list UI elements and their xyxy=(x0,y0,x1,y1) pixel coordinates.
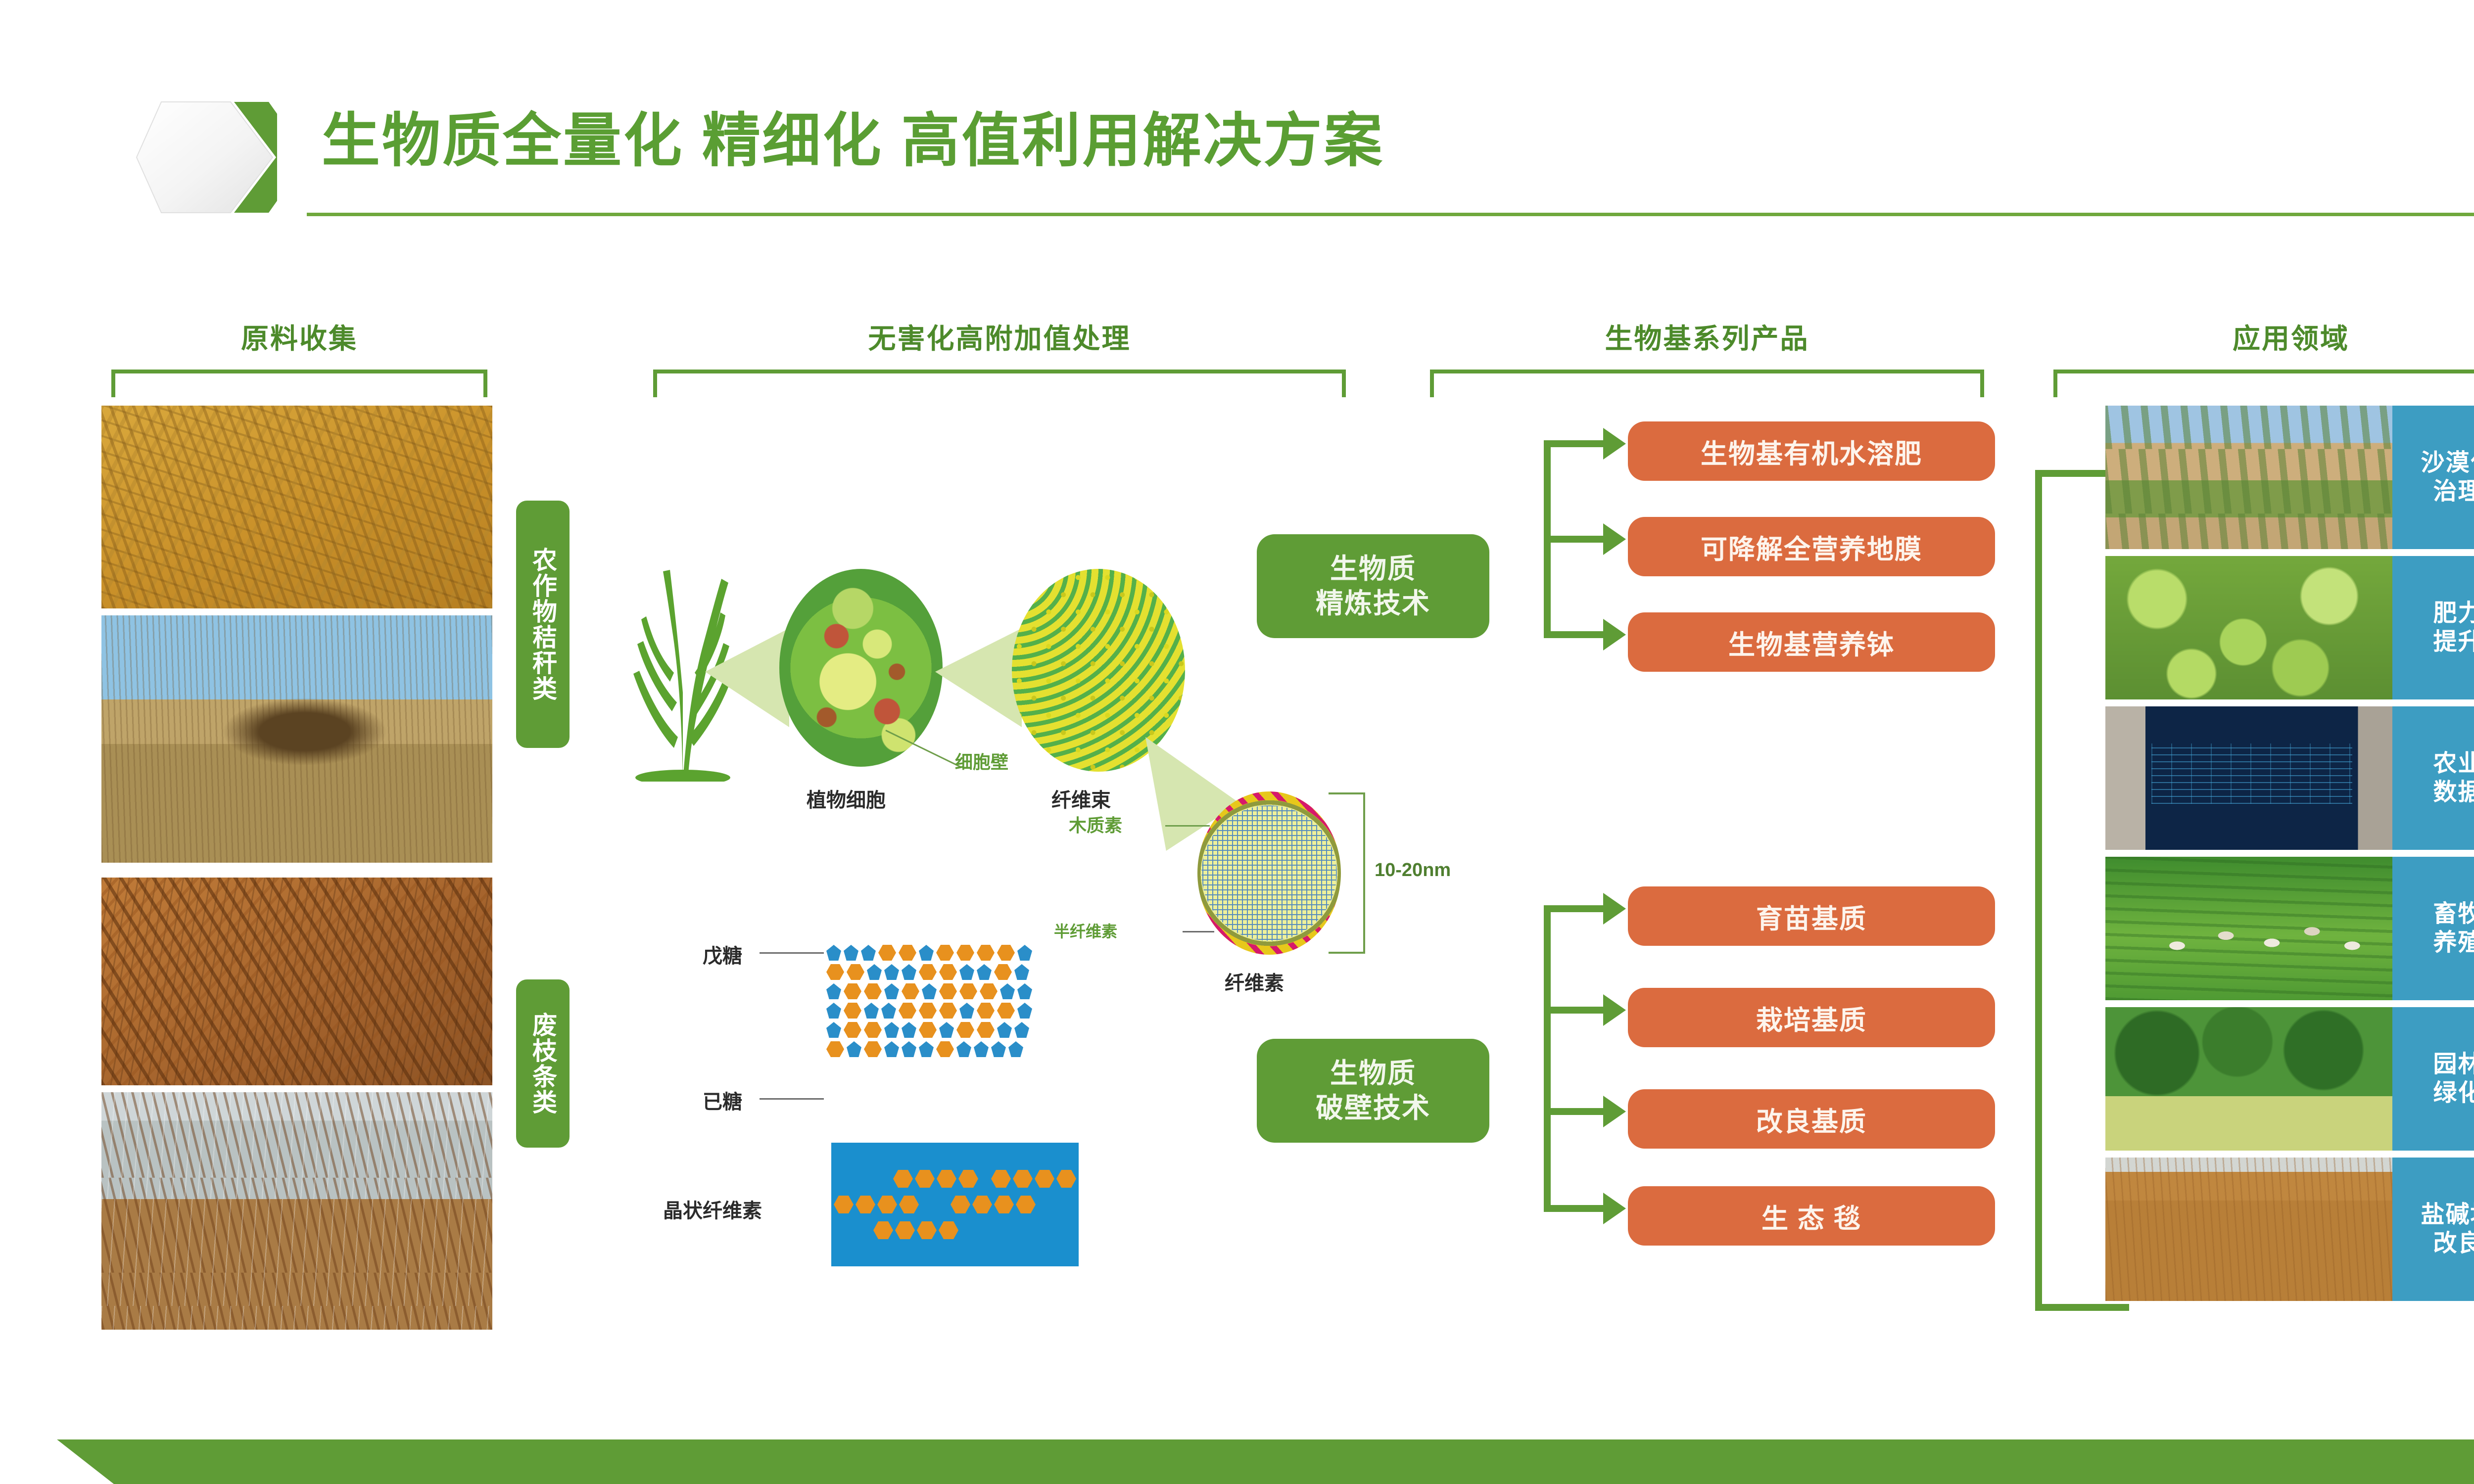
connector-branch-wall-2 xyxy=(1544,1007,1603,1014)
page-title: 生物质全量化 精细化 高值利用解决方案 xyxy=(322,93,1384,178)
application-row-3[interactable]: 农业 数据 xyxy=(2105,706,2474,850)
application-row-4[interactable]: 畜牧 养殖 xyxy=(2105,857,2474,1000)
tech-box-refining-line2: 精炼技术 xyxy=(1316,586,1430,621)
photo-forest-park xyxy=(2105,1007,2392,1151)
dimension-label: 10-20nm xyxy=(1375,860,1451,881)
dimension-tick-top xyxy=(1329,792,1365,794)
application-row-1[interactable]: 沙漠化 治理 xyxy=(2105,406,2474,549)
title-underline xyxy=(307,213,2474,216)
photo-cabbage-field xyxy=(2105,556,2392,699)
application-label-1: 沙漠化 治理 xyxy=(2392,406,2474,549)
crystalline-cellulose-label: 晶状纤维素 xyxy=(663,1195,762,1223)
photo-sheep-grazing xyxy=(2105,857,2392,1000)
application-label-4-line1: 畜牧 xyxy=(2433,900,2474,928)
lignin-leader-line xyxy=(1165,825,1210,827)
application-label-1-line2: 治理 xyxy=(2433,477,2474,506)
pentose-label: 戊糖 xyxy=(703,940,742,969)
pentose-leader-line xyxy=(760,952,824,954)
hexose-label: 已糖 xyxy=(703,1086,742,1114)
grass-plant-icon xyxy=(609,524,757,782)
fiber-cross-section-illustration xyxy=(1197,791,1341,955)
column-header-products: 生物基系列产品 xyxy=(1430,317,1984,397)
column-header-raw-label: 原料收集 xyxy=(111,317,487,357)
title-bar: 生物质全量化 精细化 高值利用解决方案 xyxy=(0,0,2474,257)
column-header-products-label: 生物基系列产品 xyxy=(1430,317,1984,357)
footer-bar xyxy=(0,1439,2474,1484)
application-label-3: 农业 数据 xyxy=(2392,706,2474,850)
fiber-bundle-label: 纤维束 xyxy=(1051,784,1111,813)
sugar-row xyxy=(826,964,1032,980)
product-pill-4[interactable]: 育苗基质 xyxy=(1628,886,1995,946)
connector-branch-wall-4 xyxy=(1544,1205,1603,1212)
photo-vineyard-pruning xyxy=(101,1092,492,1330)
column-header-raw: 原料收集 xyxy=(111,317,487,397)
hemicellulose-leader-line xyxy=(1183,931,1214,932)
cell-wall-label: 细胞壁 xyxy=(955,748,1008,774)
application-list: 沙漠化 治理 肥力 提升 农业 数据 畜牧 养殖 园林 绿化 盐碱地 xyxy=(2105,406,2474,1308)
photo-desert-greening xyxy=(2105,406,2392,549)
tech-box-refining[interactable]: 生物质 精炼技术 xyxy=(1257,534,1489,638)
column-header-processing: 无害化高附加值处理 xyxy=(653,317,1346,397)
hexose-leader-line xyxy=(760,1098,824,1100)
fiber-bundle-illustration xyxy=(1012,569,1185,772)
photo-straw-bale-field xyxy=(101,615,492,863)
connector-trunk-wallbreaking xyxy=(1544,905,1551,1212)
crystal-row xyxy=(873,1221,1076,1239)
connector-branch-wall-1 xyxy=(1544,905,1603,912)
application-label-5-line2: 绿化 xyxy=(2433,1079,2474,1108)
tech-box-wallbreaking-line1: 生物质 xyxy=(1330,1056,1416,1091)
hemicellulose-label: 半纤维素 xyxy=(1054,919,1117,942)
cellulose-label: 纤维素 xyxy=(1225,967,1284,996)
application-label-4-line2: 养殖 xyxy=(2433,928,2474,957)
connector-branch-refining-3 xyxy=(1544,631,1603,638)
application-label-6-line2: 改良 xyxy=(2433,1229,2474,1258)
connector-branch-refining-2 xyxy=(1544,536,1603,543)
photo-dry-branches xyxy=(101,878,492,1085)
sugar-row xyxy=(826,1041,1032,1057)
tech-box-refining-line1: 生物质 xyxy=(1330,552,1416,586)
raw-material-photo-stack xyxy=(101,406,492,1330)
arrow-wall-1 xyxy=(1603,893,1626,925)
raw-material-tag-straw: 农作物秸秆类 xyxy=(516,501,570,748)
arrow-refining-2 xyxy=(1603,523,1626,555)
column-header-applications-label: 应用领域 xyxy=(2053,317,2474,357)
arrow-refining-1 xyxy=(1603,428,1626,460)
column-bracket xyxy=(111,370,487,397)
sugar-row xyxy=(826,945,1032,961)
column-bracket xyxy=(2053,370,2474,397)
cellulose-mesh xyxy=(1197,791,1341,955)
magnify-cone-2 xyxy=(935,628,1022,727)
product-list: 生物基有机水溶肥 可降解全营养地膜 生物基营养钵 育苗基质 栽培基质 改良基质 … xyxy=(1628,416,2004,1355)
application-row-5[interactable]: 园林 绿化 xyxy=(2105,1007,2474,1151)
lignin-label: 木质素 xyxy=(1069,811,1122,837)
application-label-4: 畜牧 养殖 xyxy=(2392,857,2474,1000)
crystal-row xyxy=(834,1196,1076,1213)
application-label-3-line1: 农业 xyxy=(2433,749,2474,778)
column-header-applications: 应用领域 xyxy=(2053,317,2474,397)
plant-cell-label: 植物细胞 xyxy=(807,784,886,813)
crystalline-cellulose-illustration xyxy=(831,1143,1079,1266)
application-label-6-line1: 盐碱地 xyxy=(2421,1201,2474,1229)
application-label-2-line1: 肥力 xyxy=(2433,599,2474,628)
tech-box-wallbreaking-line2: 破壁技术 xyxy=(1316,1091,1430,1125)
sugar-row xyxy=(826,1003,1032,1019)
application-label-1-line1: 沙漠化 xyxy=(2421,449,2474,477)
product-pill-2[interactable]: 可降解全营养地膜 xyxy=(1628,517,1995,576)
hexagon-badge-icon xyxy=(133,83,296,232)
product-pill-3[interactable]: 生物基营养钵 xyxy=(1628,612,1995,672)
tech-box-wallbreaking[interactable]: 生物质 破壁技术 xyxy=(1257,1039,1489,1143)
application-label-5-line1: 园林 xyxy=(2433,1050,2474,1079)
dimension-line-vertical xyxy=(1363,792,1365,954)
column-bracket xyxy=(653,370,1346,397)
photo-saline-alkali-soil xyxy=(2105,1158,2392,1301)
photo-corn-stalk-field xyxy=(101,406,492,608)
column-header-processing-label: 无害化高附加值处理 xyxy=(653,317,1346,357)
application-row-2[interactable]: 肥力 提升 xyxy=(2105,556,2474,699)
dimension-tick-bottom xyxy=(1329,952,1365,954)
product-pill-5[interactable]: 栽培基质 xyxy=(1628,988,1995,1047)
application-label-5: 园林 绿化 xyxy=(2392,1007,2474,1151)
application-label-6: 盐碱地 改良 xyxy=(2392,1158,2474,1301)
column-bracket xyxy=(1430,370,1984,397)
arrow-wall-4 xyxy=(1603,1193,1626,1224)
product-pill-7[interactable]: 生 态 毯 xyxy=(1628,1186,1995,1246)
plant-cell-illustration xyxy=(779,569,943,767)
product-pill-6[interactable]: 改良基质 xyxy=(1628,1089,1995,1149)
arrow-wall-3 xyxy=(1603,1096,1626,1127)
arrow-refining-3 xyxy=(1603,619,1626,650)
product-pill-1[interactable]: 生物基有机水溶肥 xyxy=(1628,421,1995,481)
raw-material-tag-branches: 废枝条类 xyxy=(516,979,570,1148)
crystal-row xyxy=(893,1170,1076,1188)
sugar-row xyxy=(826,983,1032,999)
connector-branch-refining-1 xyxy=(1544,440,1603,447)
application-row-6[interactable]: 盐碱地 改良 xyxy=(2105,1158,2474,1301)
application-label-3-line2: 数据 xyxy=(2433,778,2474,807)
sugar-row xyxy=(826,1022,1032,1038)
connector-branch-wall-3 xyxy=(1544,1108,1603,1115)
arrow-wall-2 xyxy=(1603,994,1626,1026)
sugar-chain-illustration xyxy=(826,945,1032,1061)
application-label-2: 肥力 提升 xyxy=(2392,556,2474,699)
application-label-2-line2: 提升 xyxy=(2433,628,2474,656)
photo-data-control-room xyxy=(2105,706,2392,850)
